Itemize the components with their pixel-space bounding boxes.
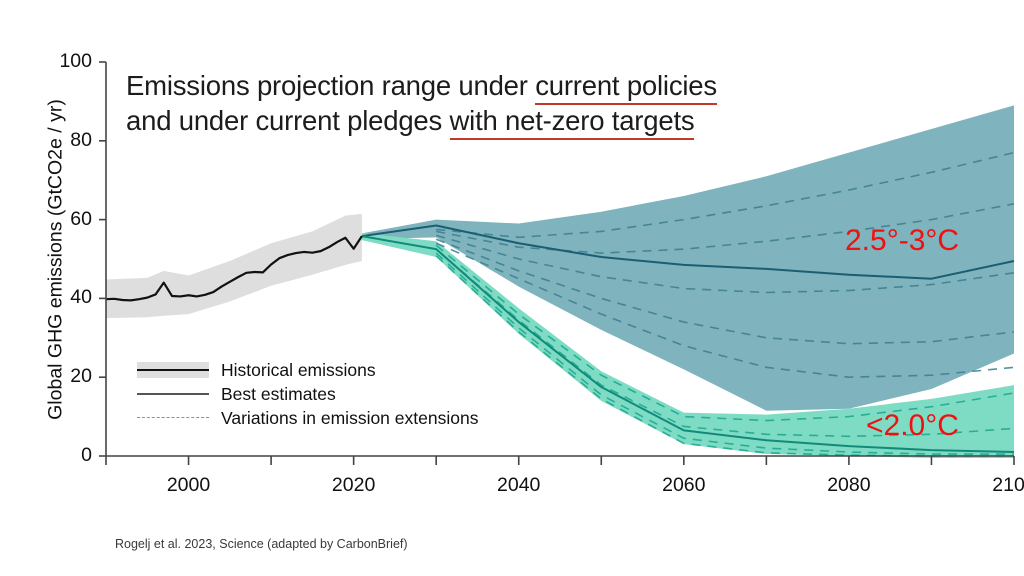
band-historical-uncertainty (106, 214, 362, 318)
legend-label-variations: Variations in emission extensions (221, 408, 478, 429)
source-caption: Rogelj et al. 2023, Science (adapted by … (115, 537, 408, 551)
chart-title: Emissions projection range under current… (126, 68, 826, 138)
chart-legend: Historical emissions Best estimates Vari… (137, 358, 478, 430)
x-tick-label-2080: 2080 (809, 474, 889, 497)
y-tick-label-0: 0 (46, 444, 92, 467)
legend-swatch-historical-band (137, 359, 209, 381)
legend-item-historical: Historical emissions (137, 358, 478, 382)
legend-label-best-estimates: Best estimates (221, 384, 336, 405)
y-tick-label-20: 20 (46, 365, 92, 388)
legend-swatch-dashed-variation-line (137, 407, 209, 429)
figure-root: Global GHG emissions (GtCO2e / yr) Emiss… (0, 0, 1024, 576)
y-axis-title: Global GHG emissions (GtCO2e / yr) (45, 50, 68, 470)
x-tick-label-2100: 2100 (974, 474, 1024, 497)
title-line1-prefix: Emissions projection range under (126, 70, 535, 101)
title-line2-prefix: and under current pledges (126, 105, 450, 136)
x-tick-label-2060: 2060 (644, 474, 724, 497)
title-line2-underlined: with net-zero targets (450, 105, 695, 140)
chart-title-line-2: and under current pledges with net-zero … (126, 103, 826, 138)
x-tick-label-2020: 2020 (314, 474, 394, 497)
y-tick-label-40: 40 (46, 286, 92, 309)
annotation-high-warming: 2.5°-3°C (845, 224, 959, 258)
legend-label-historical: Historical emissions (221, 360, 376, 381)
legend-item-variations: Variations in emission extensions (137, 406, 478, 430)
y-tick-label-60: 60 (46, 208, 92, 231)
chart-title-line-1: Emissions projection range under current… (126, 68, 826, 103)
x-tick-label-2000: 2000 (149, 474, 229, 497)
annotation-low-warming: <2.0°C (866, 409, 959, 443)
title-line1-underlined: current policies (535, 70, 717, 105)
legend-swatch-best-estimate-line (137, 383, 209, 405)
legend-item-best-estimates: Best estimates (137, 382, 478, 406)
y-tick-label-80: 80 (46, 129, 92, 152)
y-tick-label-100: 100 (46, 50, 92, 73)
x-tick-label-2040: 2040 (479, 474, 559, 497)
